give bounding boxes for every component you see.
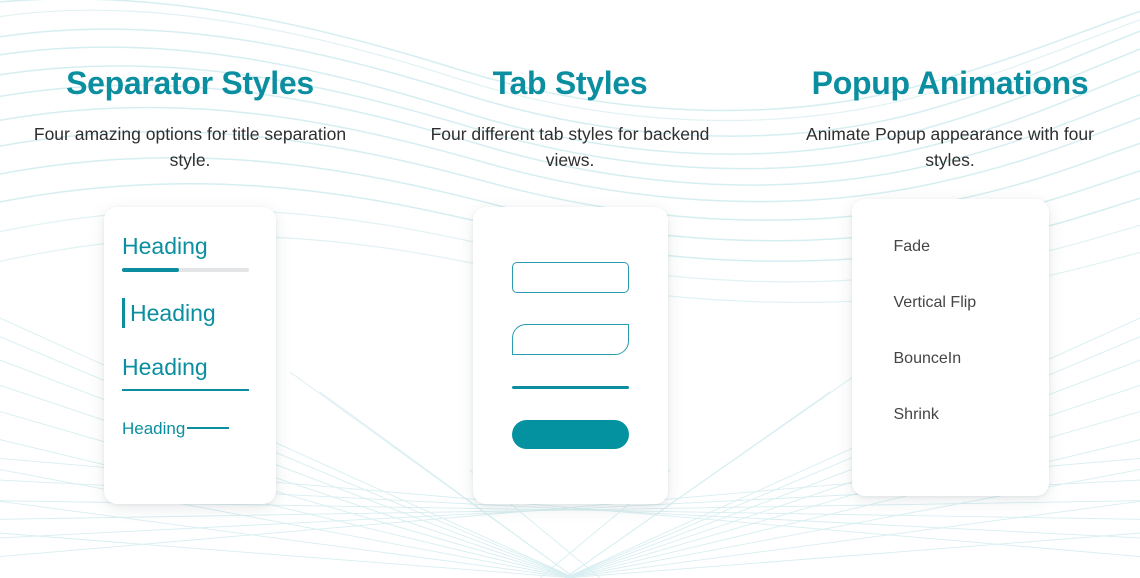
full-underline-rule [122,389,249,391]
popup-animation-option-vertical-flip[interactable]: Vertical Flip [894,295,977,311]
separator-style-partial-underline[interactable]: Heading [104,233,276,272]
separator-preview-card: Heading Heading Heading Heading [104,207,276,504]
page-title-popup-animations: Popup Animations [812,66,1089,101]
page-title-separator-styles: Separator Styles [66,66,314,101]
column-tab-styles: Tab Styles Four different tab styles for… [380,0,760,504]
popup-animation-option-bouncein[interactable]: BounceIn [894,351,962,367]
popup-animation-option-shrink[interactable]: Shrink [894,407,939,423]
separator-heading-label: Heading [122,233,276,259]
popup-animation-card: Fade Vertical Flip BounceIn Shrink [852,199,1049,496]
tab-preview-card [473,207,668,504]
column-popup-animations: Popup Animations Animate Popup appearanc… [760,0,1140,496]
partial-underline-rule [122,268,249,272]
separator-heading-label: Heading [130,300,216,326]
separator-style-trailing-line[interactable]: Heading [104,419,276,439]
tab-style-filled-pill[interactable] [512,420,629,449]
tab-style-underline[interactable] [512,386,629,389]
tab-style-outline-diagonal[interactable] [512,324,629,355]
subtitle-tab-styles: Four different tab styles for backend vi… [405,121,735,174]
subtitle-popup-animations: Animate Popup appearance with four style… [785,121,1115,174]
vertical-bar-rule [122,298,125,328]
popup-animation-option-fade[interactable]: Fade [894,239,930,255]
separator-heading-label: Heading [122,354,276,380]
separator-style-left-vertical-bar[interactable]: Heading [104,298,276,328]
separator-style-full-underline[interactable]: Heading [104,354,276,390]
content-stage: Separator Styles Four amazing options fo… [0,0,1140,578]
subtitle-separator-styles: Four amazing options for title separatio… [25,121,355,174]
trailing-line-rule [187,427,229,429]
separator-heading-label: Heading [122,419,185,439]
column-separator-styles: Separator Styles Four amazing options fo… [0,0,380,504]
tab-style-outline-rounded[interactable] [512,262,629,293]
page-title-tab-styles: Tab Styles [493,66,648,101]
